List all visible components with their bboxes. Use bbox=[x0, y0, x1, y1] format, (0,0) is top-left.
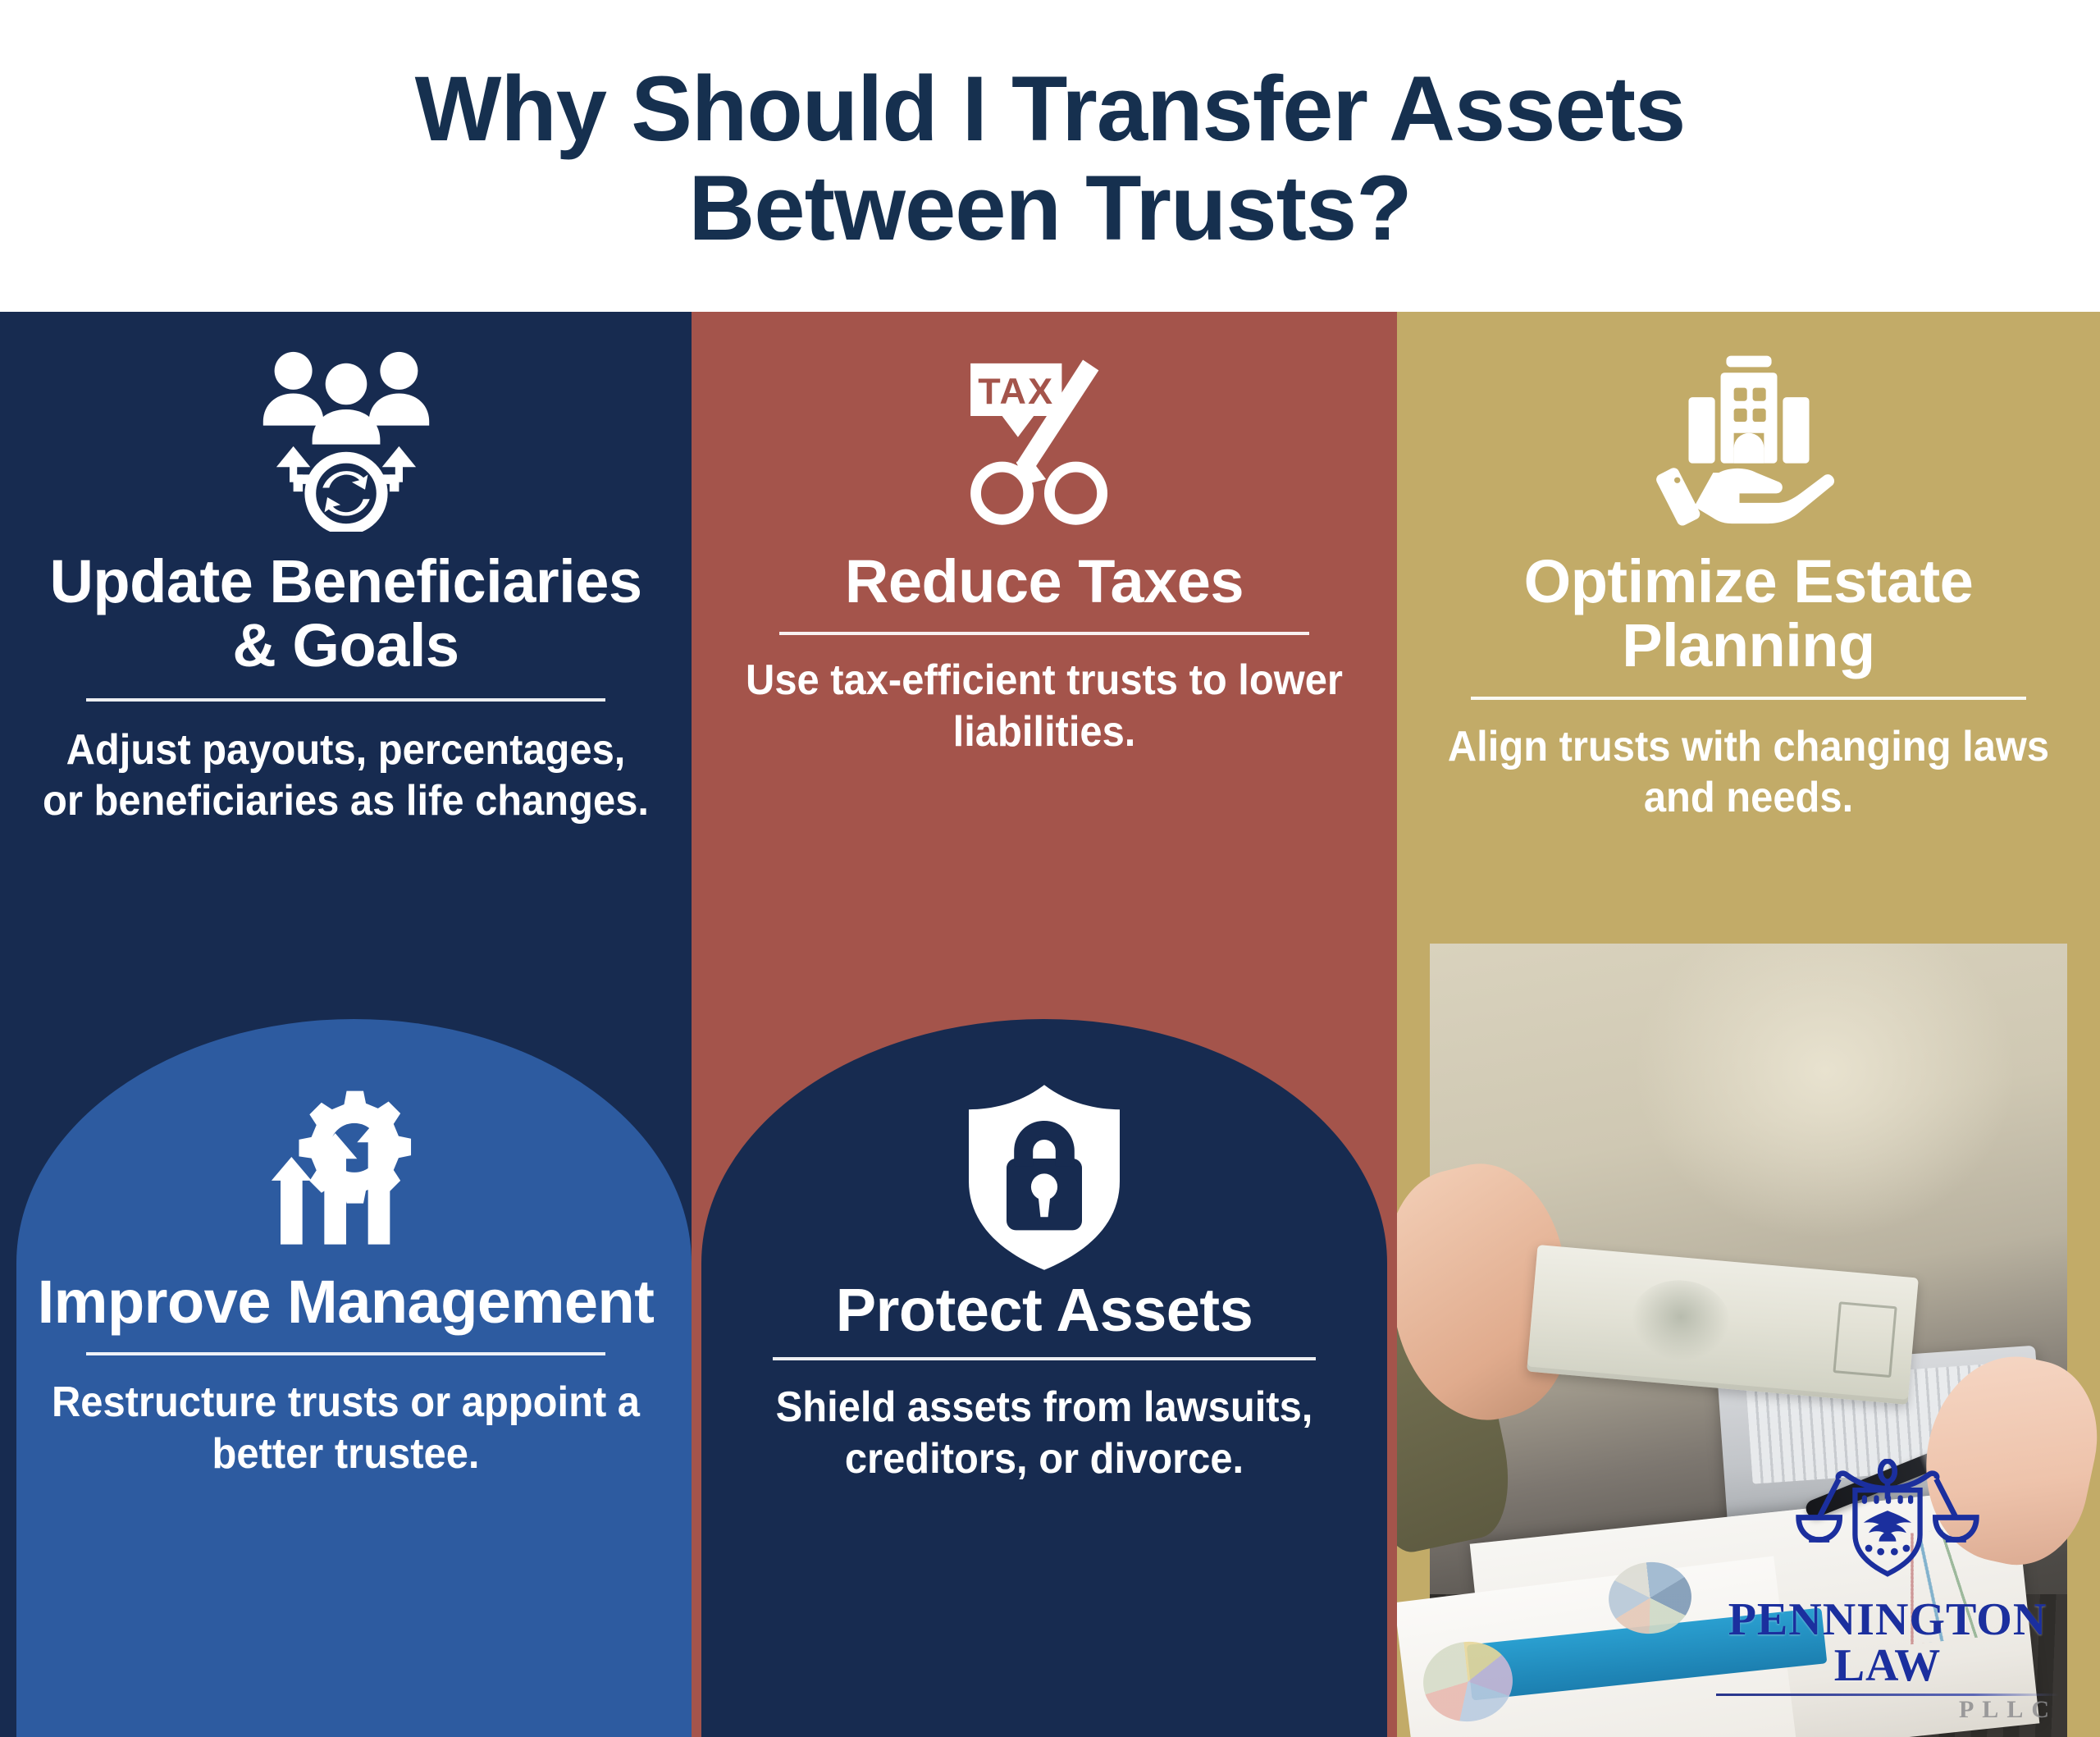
divider bbox=[773, 1357, 1317, 1360]
card-title: Update Beneficiaries & Goals bbox=[21, 550, 670, 679]
card-reduce-taxes: TAX Reduce Taxes Use tax-efficient trust… bbox=[692, 346, 1397, 757]
card-description: Use tax-efficient trusts to lower liabil… bbox=[733, 655, 1356, 757]
tax-scissors-icon: TAX bbox=[956, 346, 1132, 535]
card-title: Optimize Estate Planning bbox=[1418, 550, 2079, 679]
photo-scene bbox=[1430, 944, 2067, 1737]
card-description: Align trusts with changing laws and need… bbox=[1438, 721, 2059, 824]
shield-lock-icon bbox=[961, 1091, 1128, 1264]
card-title: Protect Assets bbox=[836, 1278, 1253, 1342]
card-description: Shield assets from lawsuits, creditors, … bbox=[733, 1382, 1356, 1484]
card-title: Reduce Taxes bbox=[845, 550, 1244, 614]
column-red: TAX Reduce Taxes Use tax-efficient trust… bbox=[692, 312, 1397, 1737]
card-optimize-estate-planning: Optimize Estate Planning Align trusts wi… bbox=[1397, 346, 2100, 824]
divider bbox=[86, 698, 605, 702]
column-navy: Update Beneficiaries & Goals Adjust payo… bbox=[0, 312, 692, 1737]
page-title-line-1: Why Should I Transfer Assets bbox=[415, 60, 1686, 159]
people-exchange-icon bbox=[252, 346, 441, 535]
card-improve-management: Improve Management Restructure trusts or… bbox=[0, 1091, 692, 1479]
card-update-beneficiaries: Update Beneficiaries & Goals Adjust payo… bbox=[0, 346, 692, 827]
card-description: Adjust payouts, percentages, or benefici… bbox=[41, 725, 651, 827]
building-in-hand-icon bbox=[1650, 346, 1847, 535]
divider bbox=[86, 1352, 605, 1355]
divider bbox=[1471, 697, 2025, 700]
card-protect-assets: Protect Assets Shield assets from lawsui… bbox=[692, 1091, 1397, 1484]
infographic-root: Why Should I Transfer Assets Between Tru… bbox=[0, 0, 2100, 1737]
money-handoff-photo bbox=[1430, 944, 2067, 1737]
column-gold: Optimize Estate Planning Align trusts wi… bbox=[1397, 312, 2100, 1737]
divider bbox=[779, 632, 1309, 635]
svg-text:TAX: TAX bbox=[978, 370, 1054, 412]
gear-growth-arrows-icon bbox=[248, 1091, 445, 1255]
card-description: Restructure trusts or appoint a better t… bbox=[41, 1377, 651, 1479]
columns-band: Update Beneficiaries & Goals Adjust payo… bbox=[0, 312, 2100, 1737]
title-block: Why Should I Transfer Assets Between Tru… bbox=[0, 0, 2100, 312]
card-title: Improve Management bbox=[38, 1270, 655, 1334]
page-title-line-2: Between Trusts? bbox=[688, 159, 1411, 258]
photo-cash bbox=[1527, 1245, 1919, 1405]
